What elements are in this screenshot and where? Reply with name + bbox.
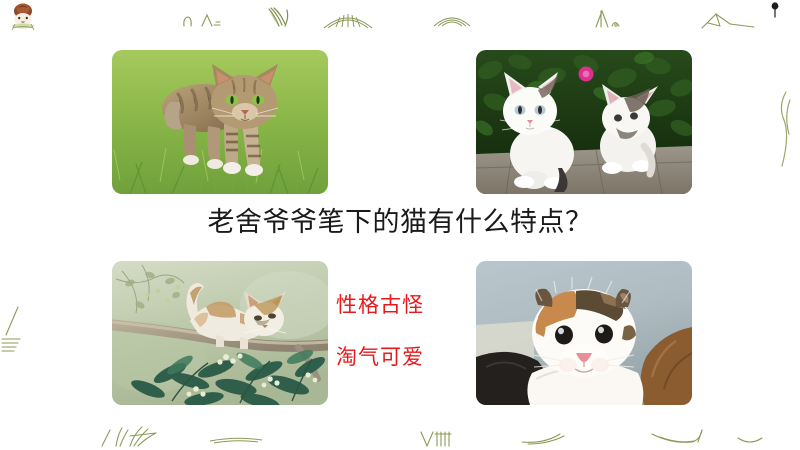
grass-sprig-icon [265,4,299,30]
tabby-cat-in-grass-photo[interactable] [112,50,328,194]
trait-label-playfulness: 淘气可爱 [336,344,466,370]
page-title: 老舍爷爷笔下的猫有什么特点？ [0,206,800,240]
cat-on-branch-painting[interactable] [112,261,328,405]
grass-sprig-icon [418,428,456,448]
calico-kitten-portrait-photo[interactable] [476,261,692,405]
trait-label-personality: 性格古怪 [336,292,466,318]
slide-canvas: 老舍爷爷笔下的猫有什么特点？ 性格古怪 淘气可爱 [0,0,800,450]
grass-blade-icon [520,430,576,446]
grass-sprig-icon [2,305,32,355]
grass-blade-icon [772,90,796,170]
grass-tuft-icon [100,424,166,448]
grass-sprig-icon [180,8,226,30]
two-white-kittens-photo[interactable] [476,50,692,194]
ink-brush-dot-icon [770,2,780,18]
grass-blade-icon [736,434,770,446]
grass-blade-icon [208,434,264,446]
corner-mascot-icon [6,2,40,36]
grass-arc-icon [322,8,374,30]
grass-arc-icon [432,10,472,28]
grass-blade-icon [650,428,714,446]
grass-sprig-icon [592,7,626,29]
grass-blade-icon [700,10,756,30]
